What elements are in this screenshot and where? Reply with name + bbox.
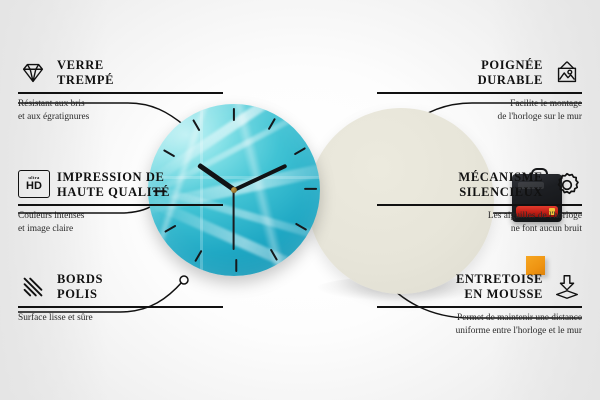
gear-icon <box>552 170 582 200</box>
feature-header: POIGNÉE DURABLE <box>377 58 582 88</box>
feature-description: Les aiguilles de l'horloge ne font aucun… <box>377 210 582 235</box>
polished-edges-icon <box>18 272 48 302</box>
feature-title: ENTRETOISE EN MOUSSE <box>456 272 543 302</box>
feature-divider <box>18 92 223 94</box>
feature-description: Permet de maintenir une distance uniform… <box>377 312 582 337</box>
feature-header: VERRE TREMPÉ <box>18 58 223 88</box>
feature-description: Facilite le montage de l'horloge sur le … <box>377 98 582 123</box>
feature-title: VERRE TREMPÉ <box>57 58 114 88</box>
foam-spacer-icon <box>552 272 582 302</box>
clock-center-cap <box>231 187 237 193</box>
feature-verre-trempe: VERRE TREMPÉ Résistant aux bris et aux é… <box>18 58 223 123</box>
clock-tick <box>233 108 235 121</box>
feature-poignee-durable: POIGNÉE DURABLE Facilite le montage de l… <box>377 58 582 123</box>
feature-header: ENTRETOISE EN MOUSSE <box>377 272 582 302</box>
feature-title: MÉCANISME SILENCIEUX <box>458 170 543 200</box>
feature-impression-hd: ultra HD IMPRESSION DE HAUTE QUALITÉ Cou… <box>18 170 223 235</box>
feature-divider <box>18 204 223 206</box>
feature-bords-polis: BORDS POLIS Surface lisse et sûre <box>18 272 223 325</box>
feature-description: Couleurs intenses et image claire <box>18 210 223 235</box>
feature-entretoise-mousse: ENTRETOISE EN MOUSSE Permet de maintenir… <box>377 272 582 337</box>
ultra-hd-icon: ultra HD <box>18 170 48 200</box>
second-hand <box>233 190 235 250</box>
feature-title: POIGNÉE DURABLE <box>478 58 543 88</box>
feature-title: IMPRESSION DE HAUTE QUALITÉ <box>57 170 170 200</box>
hanging-frame-icon <box>552 58 582 88</box>
feature-description: Résistant aux bris et aux égratignures <box>18 98 223 123</box>
feature-description: Surface lisse et sûre <box>18 312 223 325</box>
clock-tick <box>304 188 317 190</box>
infographic-canvas: VERRE TREMPÉ Résistant aux bris et aux é… <box>0 0 600 400</box>
feature-title: BORDS POLIS <box>57 272 103 302</box>
feature-divider <box>18 306 223 308</box>
feature-divider <box>377 204 582 206</box>
diamond-icon <box>18 58 48 88</box>
clock-tick <box>235 259 237 272</box>
feature-mecanisme-silencieux: MÉCANISME SILENCIEUX Les aiguilles de l'… <box>377 170 582 235</box>
feature-divider <box>377 306 582 308</box>
feature-header: ultra HD IMPRESSION DE HAUTE QUALITÉ <box>18 170 223 200</box>
feature-header: MÉCANISME SILENCIEUX <box>377 170 582 200</box>
feature-divider <box>377 92 582 94</box>
feature-header: BORDS POLIS <box>18 272 223 302</box>
